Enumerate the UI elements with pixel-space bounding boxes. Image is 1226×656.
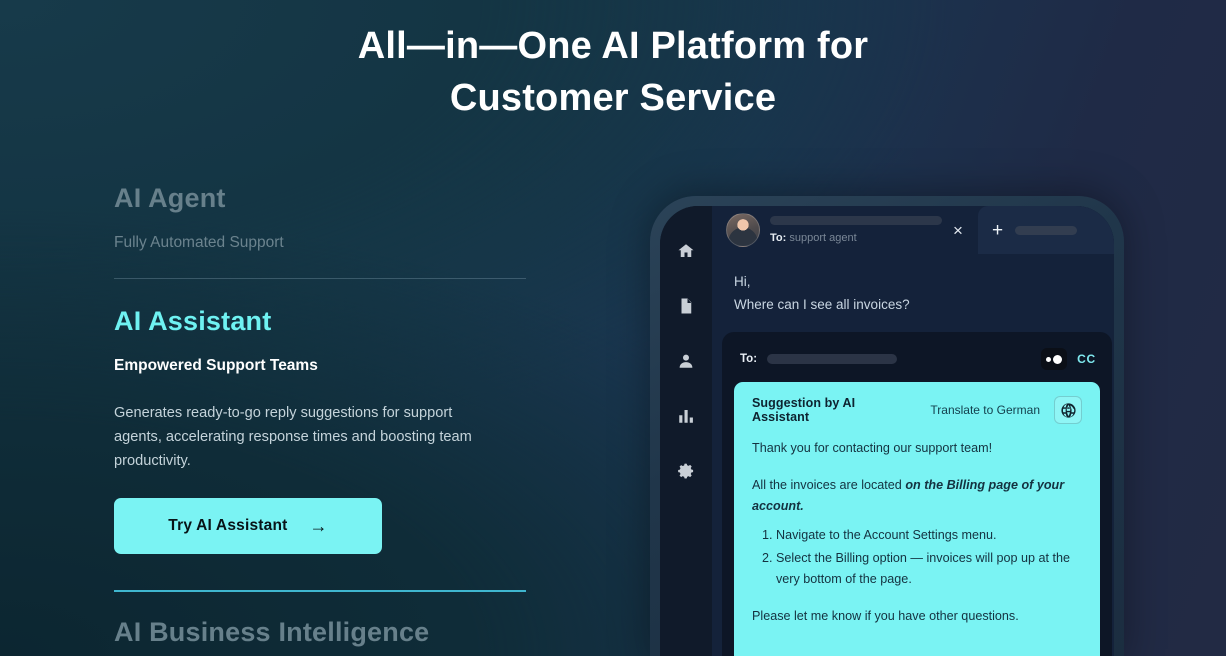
gear-icon[interactable] — [677, 462, 695, 485]
tab-active-conversation[interactable]: To: support agent — [712, 206, 938, 254]
app-content: To: support agent × + Hi, Where can I se… — [712, 206, 1114, 656]
page-title-line-2: Customer Service — [0, 72, 1226, 124]
try-ai-assistant-label: Try AI Assistant — [168, 517, 287, 535]
mic-glyph — [1046, 355, 1062, 364]
bar-chart-icon[interactable] — [677, 407, 695, 430]
tab-recipient-label: To: — [770, 232, 786, 244]
new-tab-placeholder — [1015, 226, 1077, 235]
feature-accordion: AI Agent Fully Automated Support AI Assi… — [114, 180, 526, 650]
tab-meta: To: support agent — [770, 216, 926, 244]
feature-subtitle-ai-assistant: Empowered Support Teams — [114, 355, 526, 377]
ai-suggestion-card: Suggestion by AI Assistant Translate to … — [734, 382, 1100, 656]
plus-icon: + — [992, 221, 1003, 240]
feature-divider-2 — [114, 590, 526, 592]
compose-to-label: To: — [740, 353, 757, 365]
mic-dot-large — [1053, 355, 1062, 364]
tab-recipient-value: support agent — [789, 232, 856, 244]
new-tab-button[interactable]: + — [978, 206, 1114, 254]
app-nav-rail — [660, 206, 712, 656]
arrow-right-icon: → — [310, 517, 328, 535]
feature-description-ai-assistant: Generates ready-to-go reply suggestions … — [114, 401, 494, 473]
tab-recipient: To: support agent — [770, 232, 926, 244]
suggestion-paragraph: All the invoices are located on the Bill… — [752, 475, 1082, 517]
feature-subtitle-ai-agent: Fully Automated Support — [114, 232, 526, 254]
feature-item-ai-business-intelligence[interactable]: AI Business Intelligence — [114, 614, 526, 650]
try-ai-assistant-button[interactable]: Try AI Assistant → — [114, 498, 382, 554]
suggestion-greeting: Thank you for contacting our support tea… — [752, 438, 1082, 459]
feature-item-ai-agent[interactable]: AI Agent Fully Automated Support — [114, 180, 526, 254]
feature-item-ai-assistant[interactable]: AI Assistant Empowered Support Teams Gen… — [114, 303, 526, 554]
list-item: Navigate to the Account Settings menu. — [776, 525, 1082, 546]
message-line-2: Where can I see all invoices? — [734, 293, 1114, 316]
close-icon[interactable]: × — [938, 206, 978, 254]
page-title-line-1: All—in—One AI Platform for — [0, 20, 1226, 72]
cc-button[interactable]: CC — [1077, 352, 1096, 366]
document-icon[interactable] — [677, 297, 695, 320]
phone-screen: To: support agent × + Hi, Where can I se… — [660, 206, 1114, 656]
suggestion-steps: Navigate to the Account Settings menu. S… — [752, 525, 1082, 590]
list-item: Select the Billing option — invoices wil… — [776, 548, 1082, 590]
message-line-1: Hi, — [734, 270, 1114, 293]
globe-icon[interactable] — [1054, 396, 1082, 424]
page-title: All—in—One AI Platform for Customer Serv… — [0, 20, 1226, 124]
feature-divider-1 — [114, 278, 526, 279]
avatar — [726, 213, 760, 247]
ai-suggestion-header: Suggestion by AI Assistant Translate to … — [752, 396, 1082, 438]
suggestion-paragraph-prefix: All the invoices are located — [752, 478, 905, 492]
ai-suggestion-title: Suggestion by AI Assistant — [752, 396, 902, 424]
home-icon[interactable] — [677, 242, 695, 265]
compose-panel: To: CC Suggestion by AI Assistant Transl… — [722, 332, 1112, 656]
translate-label[interactable]: Translate to German — [930, 403, 1040, 417]
incoming-message: Hi, Where can I see all invoices? — [712, 254, 1114, 316]
compose-to-input[interactable] — [767, 354, 897, 364]
compose-header: To: CC — [734, 344, 1100, 382]
mic-dot-small — [1046, 357, 1051, 362]
suggestion-closing: Please let me know if you have other que… — [752, 606, 1082, 627]
feature-title-ai-agent: AI Agent — [114, 180, 526, 216]
ai-suggestion-body: Thank you for contacting our support tea… — [752, 438, 1082, 627]
phone-mockup: To: support agent × + Hi, Where can I se… — [650, 196, 1124, 656]
mic-icon[interactable] — [1041, 348, 1067, 370]
tab-strip: To: support agent × + — [712, 206, 1114, 254]
feature-title-ai-business-intelligence: AI Business Intelligence — [114, 614, 526, 650]
feature-title-ai-assistant: AI Assistant — [114, 303, 526, 339]
person-icon[interactable] — [677, 352, 695, 375]
tab-title-placeholder — [770, 216, 942, 225]
